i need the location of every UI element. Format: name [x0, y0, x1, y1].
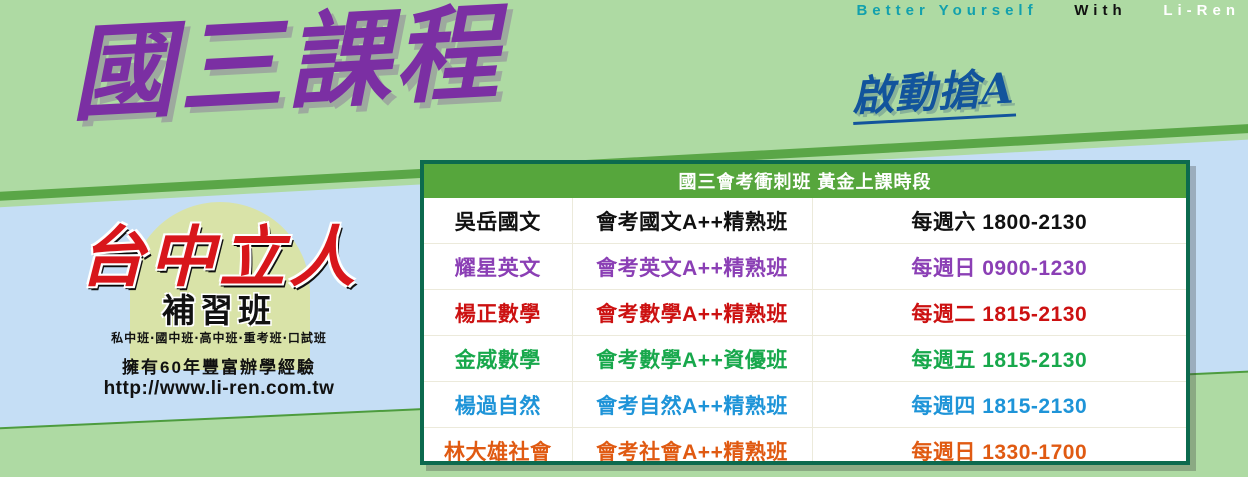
logo-website-url[interactable]: http://www.li-ren.com.tw	[24, 378, 414, 401]
cell-time: 每週日 1330-1700	[812, 428, 1186, 466]
cell-course: 會考自然A++精熟班	[572, 382, 812, 428]
logo-experience-text: 擁有60年豐富辦學經驗	[24, 357, 414, 378]
tagline: Better Yourself With Li-Ren	[856, 0, 1240, 22]
schedule-table-body: 吳岳國文會考國文A++精熟班每週六 1800-2130耀星英文會考英文A++精熟…	[424, 198, 1186, 465]
cell-time: 每週五 1815-2130	[812, 336, 1186, 382]
cell-time: 每週日 0900-1230	[812, 244, 1186, 290]
table-row: 金威數學會考數學A++資優班每週五 1815-2130	[424, 336, 1186, 382]
cell-time: 每週四 1815-2130	[812, 382, 1186, 428]
cell-teacher: 金威數學	[424, 336, 572, 382]
cell-course: 會考數學A++資優班	[572, 336, 812, 382]
cell-teacher: 吳岳國文	[424, 198, 572, 244]
cell-course: 會考數學A++精熟班	[572, 290, 812, 336]
cell-teacher: 楊正數學	[424, 290, 572, 336]
page-subtitle: 啟動搶A	[851, 66, 1016, 126]
cell-teacher: 楊過自然	[424, 382, 572, 428]
logo-subtitle: 補習班	[24, 294, 414, 329]
table-row: 楊正數學會考數學A++精熟班每週二 1815-2130	[424, 290, 1186, 336]
tagline-part-3: Li-Ren	[1163, 2, 1240, 19]
cell-time: 每週二 1815-2130	[812, 290, 1186, 336]
cell-time: 每週六 1800-2130	[812, 198, 1186, 244]
table-row: 楊過自然會考自然A++精熟班每週四 1815-2130	[424, 382, 1186, 428]
table-row: 耀星英文會考英文A++精熟班每週日 0900-1230	[424, 244, 1186, 290]
tagline-part-2: With	[1074, 2, 1126, 19]
schedule-table: 國三會考衝刺班 黃金上課時段 吳岳國文會考國文A++精熟班每週六 1800-21…	[424, 164, 1186, 465]
cell-course: 會考國文A++精熟班	[572, 198, 812, 244]
page-title: 國三課程	[67, 0, 505, 137]
table-header-title: 國三會考衝刺班 黃金上課時段	[424, 164, 1186, 198]
cell-teacher: 林大雄社會	[424, 428, 572, 466]
poster-canvas: Better Yourself With Li-Ren 國三課程 啟動搶A 台中…	[0, 0, 1248, 477]
table-row: 林大雄社會會考社會A++精熟班每週日 1330-1700	[424, 428, 1186, 466]
cell-course: 會考英文A++精熟班	[572, 244, 812, 290]
logo-class-list: 私中班‧國中班‧高中班‧重考班‧口試班	[24, 331, 414, 345]
table-header-row: 國三會考衝刺班 黃金上課時段	[424, 164, 1186, 198]
brand-logo: 台中立人 補習班 私中班‧國中班‧高中班‧重考班‧口試班 擁有60年豐富辦學經驗…	[24, 196, 414, 426]
cell-teacher: 耀星英文	[424, 244, 572, 290]
logo-name: 台中立人	[24, 224, 414, 290]
cell-course: 會考社會A++精熟班	[572, 428, 812, 466]
schedule-table-container: 國三會考衝刺班 黃金上課時段 吳岳國文會考國文A++精熟班每週六 1800-21…	[420, 160, 1190, 465]
tagline-part-1: Better Yourself	[856, 2, 1037, 19]
table-row: 吳岳國文會考國文A++精熟班每週六 1800-2130	[424, 198, 1186, 244]
